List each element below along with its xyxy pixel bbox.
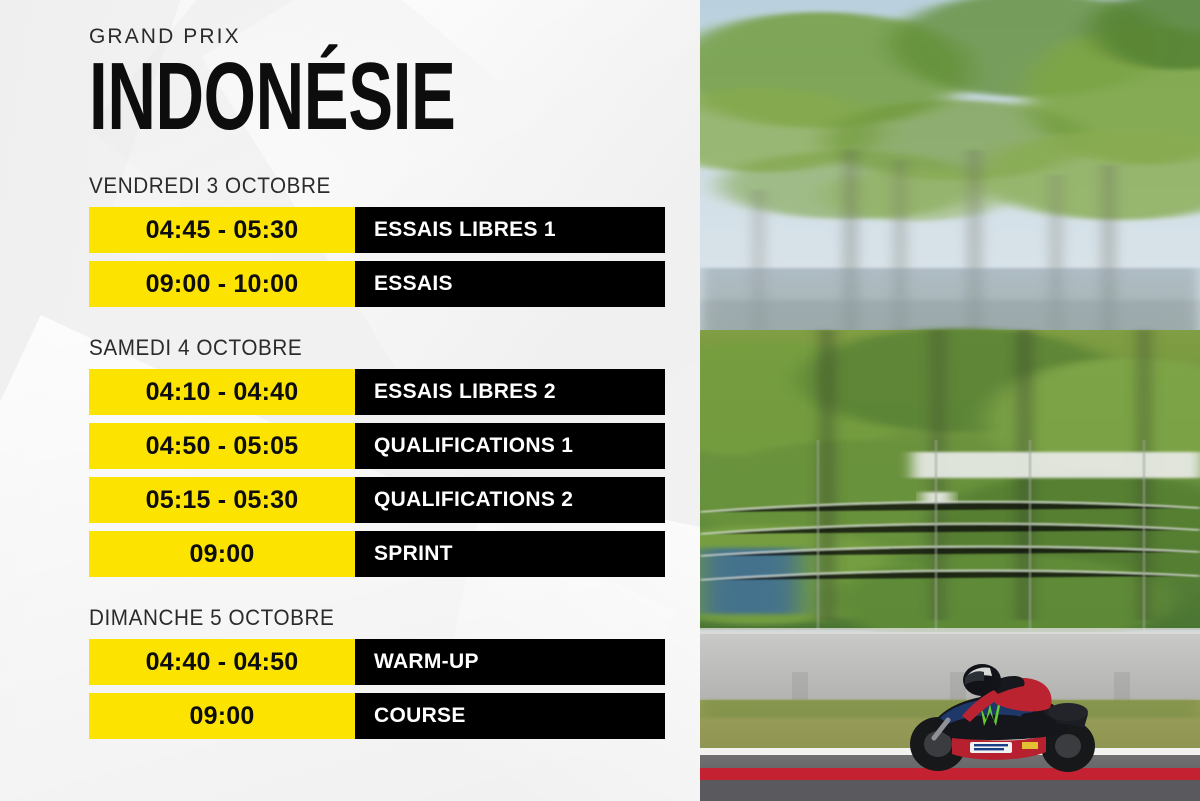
day-group: VENDREDI 3 OCTOBRE04:45 - 05:30ESSAIS LI… bbox=[89, 175, 700, 307]
session-time: 04:10 - 04:40 bbox=[89, 369, 355, 415]
race-photo-artwork bbox=[700, 0, 1200, 801]
session-time: 04:50 - 05:05 bbox=[89, 423, 355, 469]
session-name: ESSAIS LIBRES 2 bbox=[355, 369, 665, 415]
session-time: 04:40 - 04:50 bbox=[89, 639, 355, 685]
session-time: 09:00 - 10:00 bbox=[89, 261, 355, 307]
schedule-graphic: GRAND PRIX INDONÉSIE VENDREDI 3 OCTOBRE0… bbox=[0, 0, 1200, 801]
session-time: 04:45 - 05:30 bbox=[89, 207, 355, 253]
day-group: SAMEDI 4 OCTOBRE04:10 - 04:40ESSAIS LIBR… bbox=[89, 337, 700, 577]
session-row: 04:45 - 05:30ESSAIS LIBRES 1 bbox=[89, 207, 665, 253]
session-time: 05:15 - 05:30 bbox=[89, 477, 355, 523]
session-name: WARM-UP bbox=[355, 639, 665, 685]
day-list: VENDREDI 3 OCTOBRE04:45 - 05:30ESSAIS LI… bbox=[89, 175, 700, 739]
schedule-content: GRAND PRIX INDONÉSIE VENDREDI 3 OCTOBRE0… bbox=[0, 0, 700, 739]
session-name: ESSAIS LIBRES 1 bbox=[355, 207, 665, 253]
session-name: SPRINT bbox=[355, 531, 665, 577]
day-heading: VENDREDI 3 OCTOBRE bbox=[89, 175, 663, 197]
session-time: 09:00 bbox=[89, 531, 355, 577]
session-name: QUALIFICATIONS 1 bbox=[355, 423, 665, 469]
session-name: COURSE bbox=[355, 693, 665, 739]
session-row: 04:10 - 04:40ESSAIS LIBRES 2 bbox=[89, 369, 665, 415]
day-group: DIMANCHE 5 OCTOBRE04:40 - 04:50WARM-UP09… bbox=[89, 607, 700, 739]
day-heading: DIMANCHE 5 OCTOBRE bbox=[89, 607, 663, 629]
session-row: 04:50 - 05:05QUALIFICATIONS 1 bbox=[89, 423, 665, 469]
page-title: INDONÉSIE bbox=[89, 55, 517, 139]
session-time: 09:00 bbox=[89, 693, 355, 739]
race-photo bbox=[700, 0, 1200, 801]
session-name: QUALIFICATIONS 2 bbox=[355, 477, 665, 523]
session-row: 09:00SPRINT bbox=[89, 531, 665, 577]
schedule-panel: GRAND PRIX INDONÉSIE VENDREDI 3 OCTOBRE0… bbox=[0, 0, 700, 801]
session-row: 05:15 - 05:30QUALIFICATIONS 2 bbox=[89, 477, 665, 523]
session-name: ESSAIS bbox=[355, 261, 665, 307]
day-heading: SAMEDI 4 OCTOBRE bbox=[89, 337, 663, 359]
session-row: 09:00 - 10:00ESSAIS bbox=[89, 261, 665, 307]
session-row: 09:00COURSE bbox=[89, 693, 665, 739]
session-row: 04:40 - 04:50WARM-UP bbox=[89, 639, 665, 685]
